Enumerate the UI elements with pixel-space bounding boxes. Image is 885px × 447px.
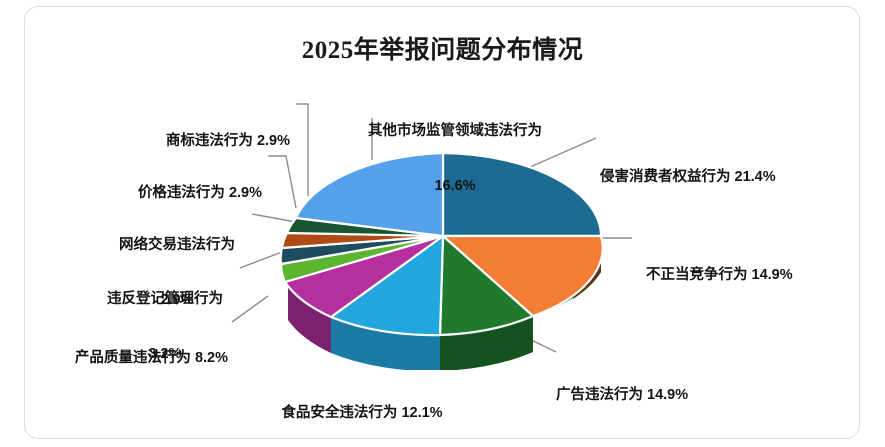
label-consumer: 侵害消费者权益行为 21.4%	[600, 132, 830, 205]
label-food-line1: 食品安全违法行为 12.1%	[262, 404, 462, 422]
label-other: 其他市场监管领域违法行为 16.6%	[330, 86, 580, 213]
label-price-line1: 价格违法行为 2.9%	[66, 184, 262, 202]
label-ad-line1: 广告违法行为 14.9%	[556, 386, 776, 404]
label-network-line2: 2.9%	[104, 291, 250, 309]
label-trademark: 商标违法行为 2.9%	[96, 96, 290, 169]
label-unfair: 不正当竞争行为 14.9%	[646, 230, 866, 303]
label-ad: 广告违法行为 14.9%	[556, 350, 776, 423]
label-registration-line2: 3.2%	[92, 345, 238, 363]
label-consumer-line1: 侵害消费者权益行为 21.4%	[600, 168, 830, 186]
label-food: 食品安全违法行为 12.1%	[262, 368, 462, 441]
label-network-line1: 网络交易违法行为	[104, 236, 250, 254]
label-other-line1: 其他市场监管领域违法行为	[330, 122, 580, 140]
label-other-line2: 16.6%	[330, 177, 580, 195]
label-unfair-line1: 不正当竞争行为 14.9%	[646, 266, 866, 284]
label-trademark-line1: 商标违法行为 2.9%	[96, 132, 290, 150]
